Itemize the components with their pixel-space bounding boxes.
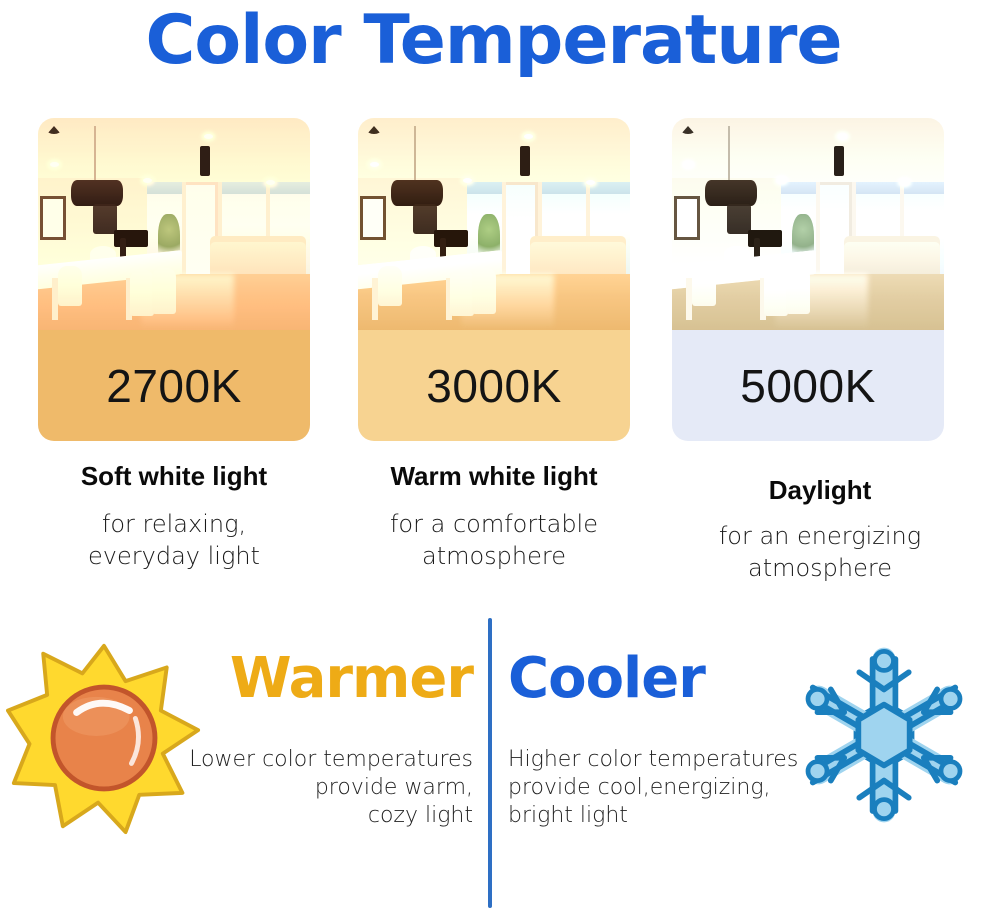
pendant-lamp-shade-secondary	[93, 204, 117, 234]
caption-title: Soft white light	[24, 462, 324, 492]
ceiling-fixture	[200, 146, 210, 176]
dining-chair	[450, 270, 474, 316]
kelvin-band-5000k: 5000K	[672, 330, 944, 441]
dining-chair	[152, 268, 176, 314]
card-captions: Soft white light for relaxing, everyday …	[0, 462, 987, 597]
ceiling-spotlight	[586, 180, 595, 185]
pendant-lamp-shade	[705, 180, 757, 206]
pendant-lamp-shade-secondary	[727, 204, 751, 234]
ceiling-spotlight	[684, 162, 693, 167]
ceiling-spotlight	[524, 134, 533, 139]
dining-chair	[692, 266, 716, 306]
pendant-lamp-cord	[414, 126, 416, 184]
ceiling-spotlight	[143, 178, 152, 183]
dining-chair	[378, 266, 402, 306]
ceiling-spotlight	[777, 178, 786, 183]
kelvin-band-3000k: 3000K	[358, 330, 630, 441]
pendant-lamp-shade	[71, 180, 123, 206]
kelvin-label: 5000K	[740, 359, 876, 413]
room-photo-2700k	[38, 118, 310, 330]
caption-subtitle: for relaxing, everyday light	[24, 508, 324, 573]
snowflake-icon	[789, 640, 979, 830]
room-photo-5000k	[672, 118, 944, 330]
room-photo-3000k	[358, 118, 630, 330]
ceiling-spotlight	[900, 180, 909, 185]
caption-subtitle: for a comfortable atmosphere	[344, 508, 644, 573]
caption-5000k: Daylight for an energizing atmosphere	[670, 462, 970, 585]
wall-picture-frame	[674, 196, 700, 240]
wall-picture-frame	[40, 196, 66, 240]
dining-chair	[472, 268, 496, 314]
sea-view	[147, 182, 310, 194]
window-mullion	[816, 182, 820, 278]
ceiling-corner-marker	[367, 126, 381, 134]
pendant-lamp-cord	[728, 126, 730, 184]
ceiling-fixture	[834, 146, 844, 176]
kelvin-label: 3000K	[426, 359, 562, 413]
pendant-lamp-cord	[94, 126, 96, 184]
kelvin-band-2700k: 2700K	[38, 330, 310, 441]
color-temperature-cards: 2700K	[0, 118, 987, 448]
ceiling-spotlight	[50, 162, 59, 167]
pendant-lamp-shade	[391, 180, 443, 206]
warmer-heading: Warmer	[188, 646, 473, 711]
ceiling-fixture	[520, 146, 530, 176]
page-title: Color Temperature	[0, 4, 987, 79]
ceiling-corner-marker	[681, 126, 695, 134]
caption-subtitle: for an energizing atmosphere	[670, 520, 970, 585]
pendant-lamp-shade-secondary	[413, 204, 437, 234]
window-mullion	[182, 182, 186, 278]
caption-title: Warm white light	[344, 462, 644, 492]
dining-chair	[786, 268, 810, 314]
caption-title: Daylight	[670, 476, 970, 506]
ceiling-spotlight	[838, 134, 847, 139]
window-mullion	[502, 182, 506, 278]
ceiling-spotlight	[266, 180, 275, 185]
wall-picture-frame	[360, 196, 386, 240]
dining-chair	[764, 270, 788, 316]
caption-3000k: Warm white light for a comfortable atmos…	[344, 462, 644, 573]
temperature-card-3000k[interactable]: 3000K	[358, 118, 630, 441]
ceiling-spotlight	[370, 162, 379, 167]
dining-chair	[130, 270, 154, 316]
kelvin-label: 2700K	[106, 359, 242, 413]
dining-chair	[58, 266, 82, 306]
ceiling-spotlight	[204, 134, 213, 139]
temperature-card-5000k[interactable]: 5000K	[672, 118, 944, 441]
caption-2700k: Soft white light for relaxing, everyday …	[24, 462, 324, 573]
sea-view	[781, 182, 944, 194]
sea-view	[467, 182, 630, 194]
vertical-divider	[488, 618, 492, 908]
temperature-card-2700k[interactable]: 2700K	[38, 118, 310, 441]
cooler-heading: Cooler	[508, 646, 808, 711]
warm-cool-comparison: Warmer Lower color temperatures provide …	[0, 618, 987, 918]
warmer-description: Lower color temperatures provide warm, c…	[150, 746, 473, 830]
ceiling-corner-marker	[47, 126, 61, 134]
ceiling-spotlight	[463, 178, 472, 183]
